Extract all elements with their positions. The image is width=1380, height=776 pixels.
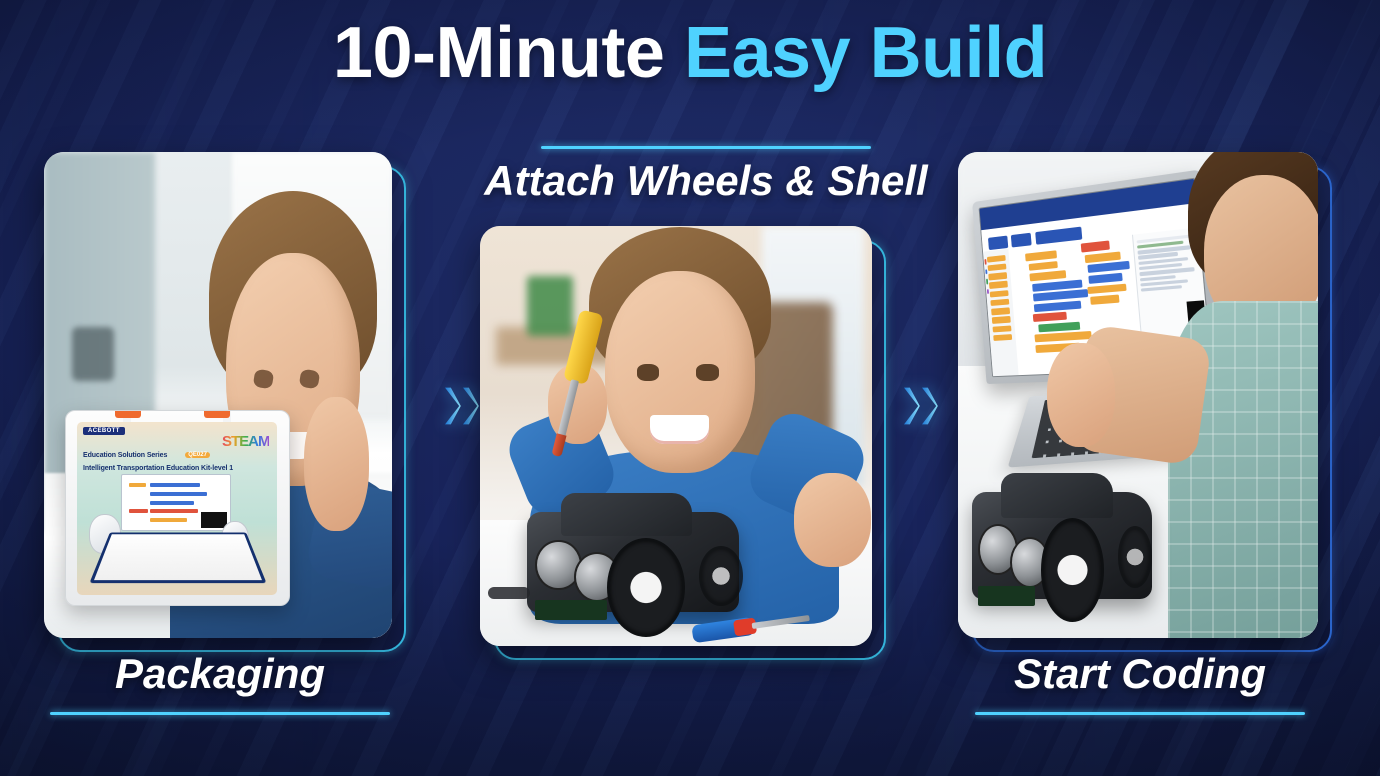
product-kit-name: Intelligent Transportation Education Kit…: [83, 465, 233, 472]
hand-typing: [1047, 343, 1116, 448]
step-photo-start-coding: [958, 152, 1318, 638]
robot-car: [527, 512, 739, 613]
label-track-mat: [89, 532, 266, 583]
caption-text: Packaging: [24, 652, 416, 696]
caption-rule: [975, 712, 1305, 715]
child-figure: [1160, 152, 1318, 638]
label-software-screenshot: [121, 474, 231, 531]
double-chevron-right-icon-second: [921, 386, 938, 426]
step-arrow-2: [903, 386, 938, 426]
step-arrow-1: [444, 386, 479, 426]
brand-badge: ACEBOTT: [83, 427, 125, 435]
caption-text: Start Coding: [940, 652, 1340, 696]
product-case: ACEBOTT Education Solution Series QE027 …: [65, 410, 290, 606]
poster-root: 10-Minute Easy Build: [0, 0, 1380, 776]
caption-start-coding: Start Coding: [940, 652, 1340, 715]
step-photo-packaging: ACEBOTT Education Solution Series QE027 …: [44, 152, 392, 638]
caption-attach-wheels: Attach Wheels & Shell: [480, 146, 932, 203]
product-sku: QE027: [185, 452, 210, 458]
robot-car-assembled: [972, 492, 1152, 599]
step-card-start-coding[interactable]: [958, 152, 1318, 638]
title-part-one: 10-Minute: [333, 13, 665, 93]
step-photo-attach-wheels: [480, 226, 872, 646]
product-series: Education Solution Series: [83, 452, 167, 459]
step-card-packaging[interactable]: ACEBOTT Education Solution Series QE027 …: [44, 152, 392, 638]
title-part-two: Easy Build: [684, 13, 1047, 93]
double-chevron-right-icon: [444, 386, 461, 426]
caption-packaging: Packaging: [24, 652, 416, 715]
caption-text: Attach Wheels & Shell: [480, 159, 932, 203]
steam-badge: STEAM: [222, 433, 270, 450]
poster-title: 10-Minute Easy Build: [0, 14, 1380, 93]
case-label: ACEBOTT Education Solution Series QE027 …: [77, 422, 277, 595]
double-chevron-right-icon: [903, 386, 920, 426]
double-chevron-right-icon-second: [462, 386, 479, 426]
caption-rule: [50, 712, 390, 715]
caption-rule: [541, 146, 871, 149]
step-card-attach-wheels[interactable]: [480, 226, 872, 646]
